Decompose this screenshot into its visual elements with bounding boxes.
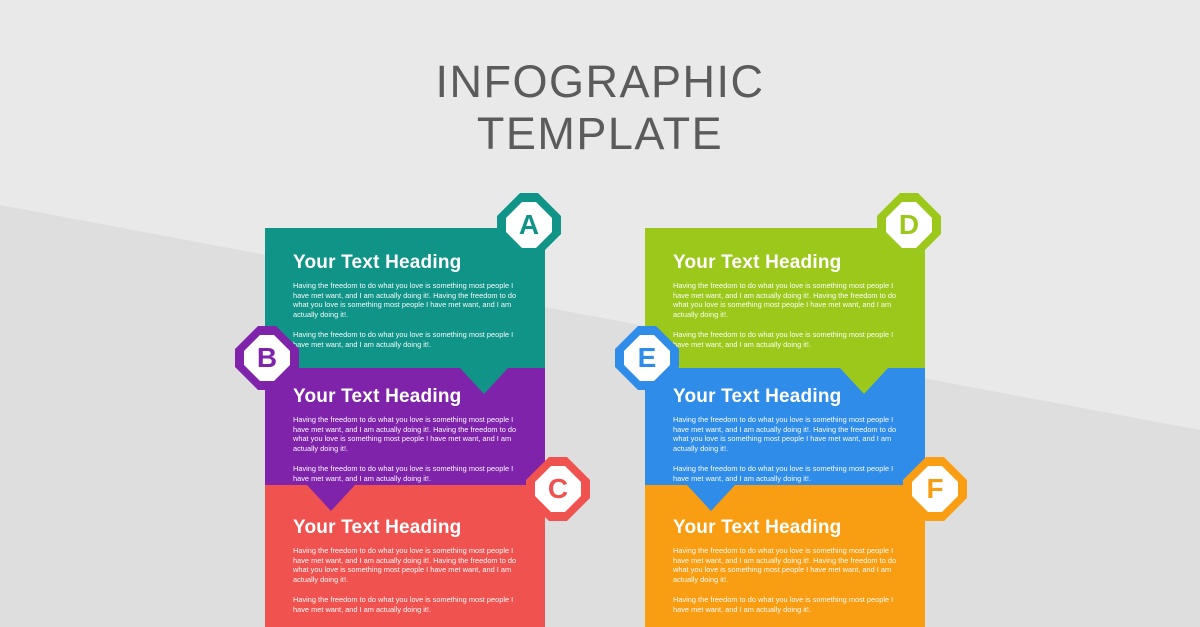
panel-e-pointer: [687, 485, 735, 511]
panel-d-paragraph-2: Having the freedom to do what you love i…: [673, 330, 907, 349]
badge-f-letter: F: [901, 455, 969, 523]
panel-b-content: Your Text Heading Having the freedom to …: [293, 386, 527, 484]
badge-d[interactable]: D: [875, 191, 943, 259]
panel-e-paragraph-1: Having the freedom to do what you love i…: [673, 415, 907, 453]
panel-f-content: Your Text Heading Having the freedom to …: [673, 517, 907, 615]
panel-a-content: Your Text Heading Having the freedom to …: [293, 252, 527, 350]
badge-e[interactable]: E: [613, 324, 681, 392]
badge-a-letter: A: [495, 191, 563, 259]
panel-c-paragraph-2: Having the freedom to do what you love i…: [293, 595, 527, 614]
badge-a[interactable]: A: [495, 191, 563, 259]
panel-a-paragraph-2: Having the freedom to do what you love i…: [293, 330, 527, 349]
background-diagonal-band: [0, 0, 1200, 627]
panel-c-paragraph-1: Having the freedom to do what you love i…: [293, 546, 527, 584]
panel-d-paragraph-1: Having the freedom to do what you love i…: [673, 281, 907, 319]
panel-a-paragraph-1: Having the freedom to do what you love i…: [293, 281, 527, 319]
panel-f-heading: Your Text Heading: [673, 517, 907, 539]
panel-a-pointer: [460, 368, 508, 394]
badge-e-letter: E: [613, 324, 681, 392]
panel-d-pointer: [840, 368, 888, 394]
badge-b[interactable]: B: [233, 324, 301, 392]
badge-b-letter: B: [233, 324, 301, 392]
panel-c-content: Your Text Heading Having the freedom to …: [293, 517, 527, 615]
badge-c-letter: C: [524, 455, 592, 523]
panel-d-content: Your Text Heading Having the freedom to …: [673, 252, 907, 350]
panel-b-paragraph-2: Having the freedom to do what you love i…: [293, 464, 527, 483]
badge-f[interactable]: F: [901, 455, 969, 523]
panel-e-content: Your Text Heading Having the freedom to …: [673, 386, 907, 484]
infographic-canvas: INFOGRAPHIC TEMPLATE Your Text Heading H…: [0, 0, 1200, 627]
panel-e-paragraph-2: Having the freedom to do what you love i…: [673, 464, 907, 483]
badge-d-letter: D: [875, 191, 943, 259]
panel-c-heading: Your Text Heading: [293, 517, 527, 539]
panel-b-paragraph-1: Having the freedom to do what you love i…: [293, 415, 527, 453]
panel-b-pointer: [307, 485, 355, 511]
panel-f-paragraph-2: Having the freedom to do what you love i…: [673, 595, 907, 614]
badge-c[interactable]: C: [524, 455, 592, 523]
panel-a-heading: Your Text Heading: [293, 252, 527, 274]
panel-d-heading: Your Text Heading: [673, 252, 907, 274]
panel-f-paragraph-1: Having the freedom to do what you love i…: [673, 546, 907, 584]
